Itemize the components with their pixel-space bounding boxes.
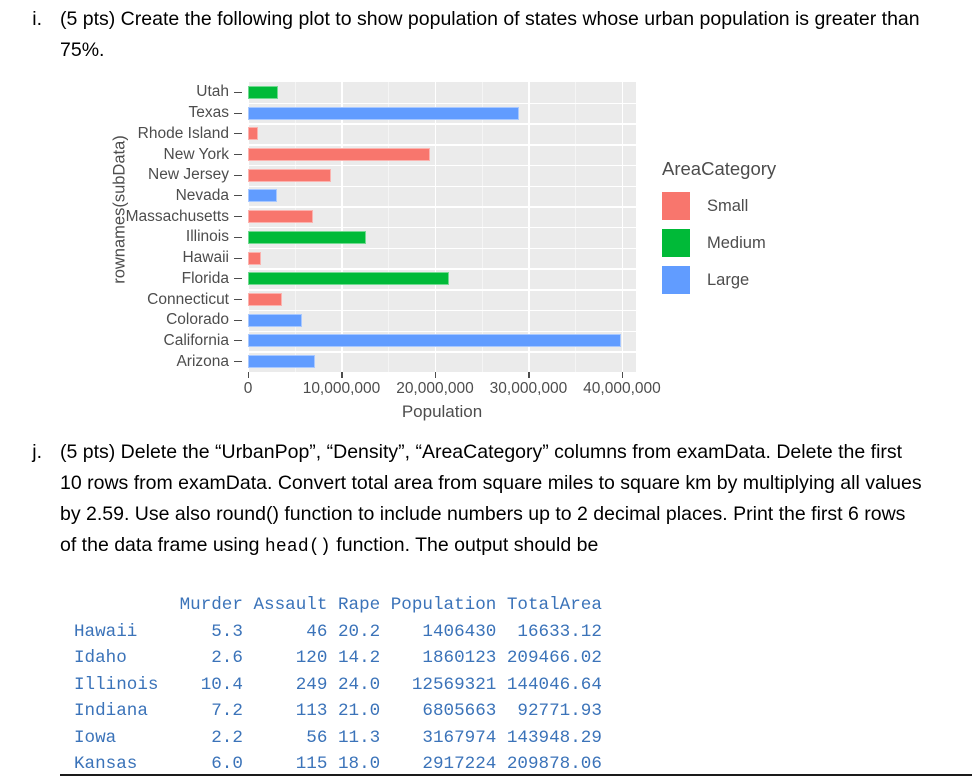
chart-y-tick-text: Nevada <box>176 187 229 205</box>
console-data-row: Indiana 7.2 113 21.0 6805663 92771.93 <box>74 698 602 725</box>
chart-y-tick-text: Rhode Island <box>138 125 229 143</box>
chart-legend-label: Medium <box>707 234 766 253</box>
chart-y-tick-mark <box>234 195 242 196</box>
chart-legend-label: Large <box>707 271 749 290</box>
chart-y-tick-text: Massachusetts <box>126 208 229 226</box>
question-j-text-part2: function. The output should be <box>331 534 598 556</box>
console-header-row: Murder Assault Rape Population TotalArea <box>74 592 602 619</box>
chart-bar <box>248 148 430 161</box>
console-data-row: Iowa 2.2 56 11.3 3167974 143948.29 <box>74 725 602 752</box>
chart-x-tick-label: 10,000,000 <box>303 380 381 398</box>
chart-bar <box>248 107 519 120</box>
chart-y-tick-label: Texas <box>104 103 246 124</box>
chart-x-tick-mark <box>341 372 342 378</box>
chart-bar-row <box>248 248 636 269</box>
chart-y-tick-mark <box>234 133 242 134</box>
chart-y-tick-text: New York <box>164 146 229 164</box>
chart-bar-row <box>248 206 636 227</box>
chart-y-tick-label: New Jersey <box>104 165 246 186</box>
chart-y-tick-text: Hawaii <box>182 249 229 267</box>
chart-legend-items: SmallMediumLarge <box>662 192 882 294</box>
question-j-text: (5 pts) Delete the “UrbanPop”, “Density”… <box>60 437 925 563</box>
chart-y-tick-label: Colorado <box>104 310 246 331</box>
chart-bar-row <box>248 227 636 248</box>
question-i-text: (5 pts) Create the following plot to sho… <box>60 4 925 66</box>
chart-bar-row <box>248 103 636 124</box>
chart-y-tick-text: California <box>164 332 229 350</box>
chart-legend-swatch <box>662 266 690 294</box>
chart-bar-row <box>248 331 636 352</box>
chart-y-tick-text: New Jersey <box>148 166 229 184</box>
chart-bar-row <box>248 186 636 207</box>
chart-legend-swatch <box>662 192 690 220</box>
chart-y-tick-mark <box>234 361 242 362</box>
chart-y-tick-labels: UtahTexasRhode IslandNew YorkNew JerseyN… <box>104 82 246 372</box>
chart-x-axis-title: Population <box>248 402 636 422</box>
chart-y-tick-label: Nevada <box>104 186 246 207</box>
chart-bar <box>248 355 315 368</box>
chart-bar <box>248 252 261 265</box>
population-bar-chart: rownames(subData) UtahTexasRhode IslandN… <box>84 72 904 424</box>
chart-bar <box>248 293 282 306</box>
chart-x-tick-mark <box>435 372 436 378</box>
chart-bar <box>248 334 621 347</box>
console-data-row: Idaho 2.6 120 14.2 1860123 209466.02 <box>74 645 602 672</box>
chart-y-tick-label: Arizona <box>104 351 246 372</box>
chart-legend-swatch <box>662 229 690 257</box>
chart-bar <box>248 231 366 244</box>
chart-y-tick-text: Arizona <box>176 353 229 371</box>
chart-y-tick-mark <box>234 92 242 93</box>
chart-bar <box>248 210 313 223</box>
chart-bar-row <box>248 165 636 186</box>
chart-bars <box>248 82 636 372</box>
chart-y-tick-label: Rhode Island <box>104 123 246 144</box>
chart-legend-label: Small <box>707 197 748 216</box>
chart-bar-row <box>248 144 636 165</box>
chart-bar <box>248 169 331 182</box>
question-i: i. (5 pts) Create the following plot to … <box>0 4 972 66</box>
chart-x-tick-mark <box>622 372 623 378</box>
chart-y-tick-mark <box>234 237 242 238</box>
chart-bar <box>248 189 277 202</box>
chart-x-tick-label: 20,000,000 <box>396 380 474 398</box>
chart-y-tick-text: Connecticut <box>147 291 229 309</box>
chart-y-tick-mark <box>234 320 242 321</box>
chart-x-tick-label: 0 <box>244 380 253 398</box>
chart-y-tick-text: Texas <box>189 104 230 122</box>
chart-y-tick-mark <box>234 278 242 279</box>
chart-x-tick-label: 30,000,000 <box>490 380 568 398</box>
chart-legend-item: Medium <box>662 229 882 257</box>
chart-bar <box>248 127 258 140</box>
chart-legend-title: AreaCategory <box>662 158 882 180</box>
chart-y-tick-mark <box>234 299 242 300</box>
chart-y-tick-mark <box>234 258 242 259</box>
chart-y-tick-mark <box>234 216 242 217</box>
chart-bar <box>248 272 449 285</box>
chart-bar <box>248 86 278 99</box>
chart-y-tick-label: New York <box>104 144 246 165</box>
chart-legend-item: Large <box>662 266 882 294</box>
chart-y-tick-text: Illinois <box>186 228 229 246</box>
chart-x-tick-marks <box>248 372 636 379</box>
chart-y-tick-mark <box>234 175 242 176</box>
chart-y-tick-label: Hawaii <box>104 248 246 269</box>
chart-y-tick-label: Massachusetts <box>104 206 246 227</box>
chart-bar-row <box>248 310 636 331</box>
question-i-marker: i. <box>0 4 60 35</box>
chart-x-tick-mark <box>248 372 249 378</box>
question-j: j. (5 pts) Delete the “UrbanPop”, “Densi… <box>0 437 972 563</box>
chart-y-tick-label: Connecticut <box>104 289 246 310</box>
chart-bar-row <box>248 123 636 144</box>
question-j-marker: j. <box>0 437 60 468</box>
chart-bar <box>248 314 302 327</box>
chart-bar-row <box>248 82 636 103</box>
chart-y-tick-label: Florida <box>104 268 246 289</box>
chart-legend: AreaCategory SmallMediumLarge <box>662 158 882 303</box>
chart-y-tick-mark <box>234 113 242 114</box>
chart-bar-row <box>248 289 636 310</box>
chart-y-tick-mark <box>234 154 242 155</box>
console-data-row: Illinois 10.4 249 24.0 12569321 144046.6… <box>74 672 602 699</box>
chart-y-tick-mark <box>234 340 242 341</box>
chart-plot-panel <box>248 82 636 372</box>
question-j-inline-code: head() <box>265 537 331 557</box>
console-output-block: Murder Assault Rape Population TotalArea… <box>74 592 602 778</box>
chart-y-tick-label: California <box>104 331 246 352</box>
chart-legend-item: Small <box>662 192 882 220</box>
bottom-divider <box>60 774 972 776</box>
chart-y-tick-text: Florida <box>182 270 229 288</box>
chart-x-tick-mark <box>528 372 529 378</box>
console-data-row: Hawaii 5.3 46 20.2 1406430 16633.12 <box>74 619 602 646</box>
chart-bar-row <box>248 351 636 372</box>
chart-x-tick-labels: 010,000,00020,000,00030,000,00040,000,00… <box>204 380 704 400</box>
chart-y-tick-label: Illinois <box>104 227 246 248</box>
chart-y-tick-text: Utah <box>196 83 229 101</box>
chart-y-tick-label: Utah <box>104 82 246 103</box>
chart-y-tick-text: Colorado <box>166 311 229 329</box>
chart-bar-row <box>248 268 636 289</box>
chart-x-tick-label: 40,000,000 <box>583 380 661 398</box>
